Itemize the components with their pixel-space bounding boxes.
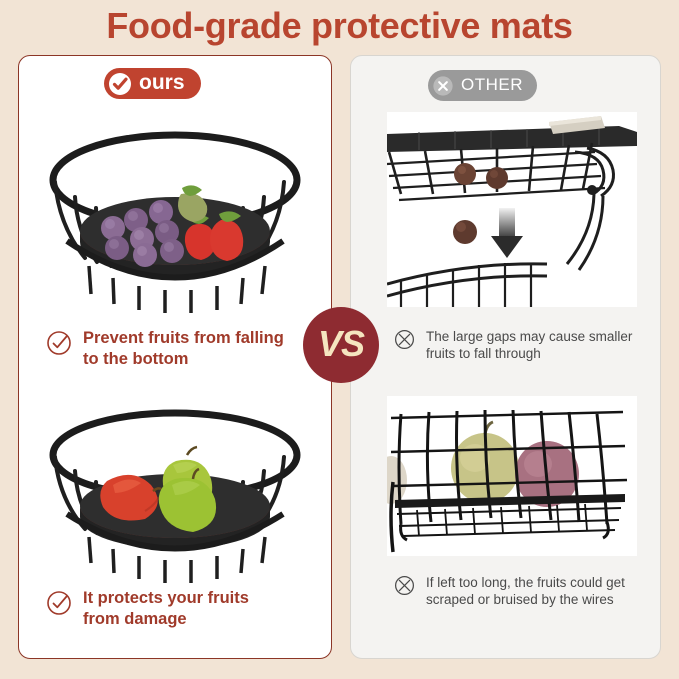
feature-protects-fruits: It protects your fruits from damage bbox=[46, 588, 316, 630]
feature-text: Prevent fruits from falling to the botto… bbox=[83, 328, 284, 370]
other-badge: OTHER bbox=[428, 70, 537, 101]
check-circle-outline-icon bbox=[46, 330, 72, 356]
issue-text: If left too long, the fruits could get s… bbox=[426, 574, 625, 608]
feature-prevent-falling: Prevent fruits from falling to the botto… bbox=[46, 328, 316, 370]
vs-label: VS bbox=[318, 326, 364, 365]
product-photo-apples bbox=[41, 393, 309, 583]
x-circle-icon bbox=[432, 75, 454, 97]
ours-badge-label: ours bbox=[139, 72, 185, 95]
other-panel: OTHER bbox=[350, 55, 661, 659]
ours-panel: ours bbox=[18, 55, 332, 659]
check-circle-outline-icon bbox=[46, 590, 72, 616]
page-title: Food-grade protective mats bbox=[0, 4, 679, 48]
competitor-photo-bare-wires bbox=[387, 396, 637, 556]
x-circle-outline-icon bbox=[394, 329, 415, 350]
vs-badge: VS bbox=[303, 307, 379, 383]
check-circle-icon bbox=[108, 72, 132, 96]
competitor-photo-gaps bbox=[387, 112, 637, 307]
issue-scraped-bruised: If left too long, the fruits could get s… bbox=[394, 574, 652, 608]
ours-badge: ours bbox=[104, 68, 201, 99]
other-badge-label: OTHER bbox=[461, 76, 523, 95]
product-photo-grapes-strawberries bbox=[41, 108, 309, 313]
issue-text: The large gaps may cause smaller fruits … bbox=[426, 328, 632, 362]
issue-large-gaps: The large gaps may cause smaller fruits … bbox=[394, 328, 652, 362]
x-circle-outline-icon bbox=[394, 575, 415, 596]
feature-text: It protects your fruits from damage bbox=[83, 588, 249, 630]
